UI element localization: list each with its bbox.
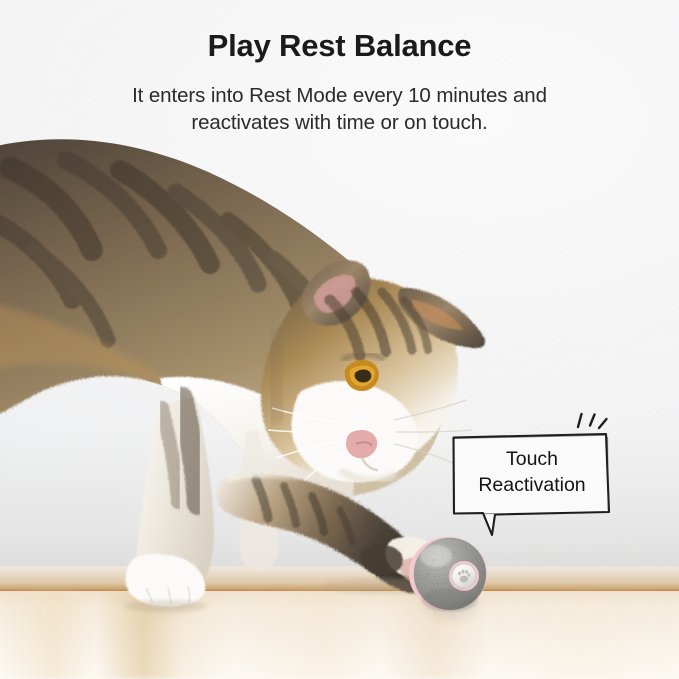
spark-marks-icon xyxy=(578,414,607,428)
callout-line-2: Reactivation xyxy=(462,472,602,498)
callout-line-1: Touch xyxy=(462,446,602,472)
page-subtitle: It enters into Rest Mode every 10 minute… xyxy=(0,82,679,136)
page-title: Play Rest Balance xyxy=(0,26,679,66)
cat-ball-toy[interactable] xyxy=(408,534,492,612)
callout-text: Touch Reactivation xyxy=(462,446,602,498)
promo-image-canvas: Touch Reactivation Play Rest Balance It … xyxy=(0,0,679,679)
subtitle-line-1: It enters into Rest Mode every 10 minute… xyxy=(0,82,679,109)
subtitle-line-2: reactivates with time or on touch. xyxy=(0,109,679,136)
